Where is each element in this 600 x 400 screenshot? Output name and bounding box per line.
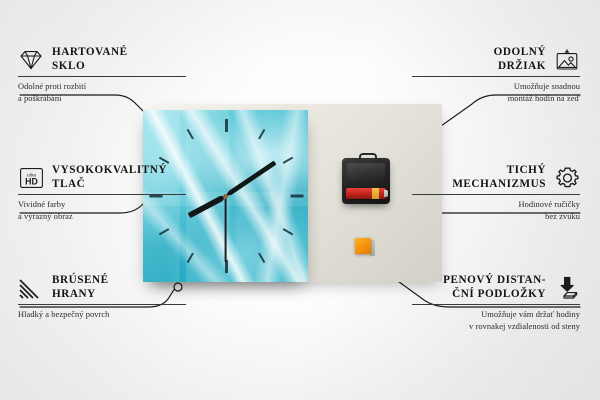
feature-durable-holder: ODOLNÝDRŽIAK Umožňuje snadnoumontáž hodi… <box>412 46 580 105</box>
tick-mark <box>290 195 303 198</box>
tick-mark <box>258 129 265 140</box>
feature-description: Umožňuje snadnoumontáž hodin na zeď <box>412 81 580 104</box>
diagonal-stripes-icon <box>18 275 44 301</box>
mechanism-emboss <box>347 163 385 183</box>
feature-desc-line2: v rovnakej vzdialenosti od steny <box>469 322 580 331</box>
feature-description: Hladký a bezpečný povrch <box>18 309 186 321</box>
feature-title: TICHÝMECHANIZMUS <box>412 164 546 191</box>
feature-tempered-glass: HARTOVANÉSKLO Odolné proti rozbitía pošk… <box>18 46 186 105</box>
hanging-picture-frame-icon <box>554 47 580 73</box>
ultra-hd-badge-icon: ultra HD <box>18 165 44 191</box>
feature-divider <box>18 304 186 305</box>
feature-title-line2: HRANY <box>52 288 96 300</box>
gear-icon <box>554 165 580 191</box>
feature-desc-line2: a výrazný obraz <box>18 212 73 221</box>
feature-high-quality-print: ultra HD VYSOKOKVALITNÝTLAČ Vividné farb… <box>18 164 186 223</box>
feature-desc-line1: Umožňuje vám držať hodiny <box>481 310 580 319</box>
feature-description: Hodinové ručičkybez zvuku <box>412 199 580 222</box>
feature-title: PENOVÝ DISTAN-ČNÍ PODLOŽKY <box>412 274 546 301</box>
svg-text:HD: HD <box>25 176 38 186</box>
aa-battery <box>346 188 386 199</box>
feature-title: BRÚSENÉHRANY <box>52 274 186 301</box>
feature-heading: TICHÝMECHANIZMUS <box>412 164 580 191</box>
feature-divider <box>18 194 186 195</box>
feature-heading: ODOLNÝDRŽIAK <box>412 46 580 73</box>
feature-title-line1: ODOLNÝ <box>494 46 546 58</box>
feature-description: Umožňuje vám držať hodinyv rovnakej vzdi… <box>412 309 580 332</box>
feature-desc-line2: bez zvuku <box>545 212 580 221</box>
feature-title-line1: BRÚSENÉ <box>52 274 109 286</box>
tick-mark <box>258 253 265 264</box>
tick-mark <box>186 129 193 140</box>
tick-mark <box>158 157 169 164</box>
feature-divider <box>18 76 186 77</box>
feature-heading: BRÚSENÉHRANY <box>18 274 186 301</box>
feature-desc-line1: Vividné farby <box>18 200 65 209</box>
feature-foam-spacer-pads: PENOVÝ DISTAN-ČNÍ PODLOŽKY Umožňuje vám … <box>412 274 580 333</box>
clock-second-hand <box>225 196 227 262</box>
feature-title-line2: TLAČ <box>52 178 85 190</box>
feature-title: ODOLNÝDRŽIAK <box>412 46 546 73</box>
feature-desc-line1: Umožňuje snadnou <box>514 82 580 91</box>
feature-description: Odolné proti rozbitía poškrábání <box>18 81 186 104</box>
feature-title-line2: SKLO <box>52 60 85 72</box>
feature-heading: HARTOVANÉSKLO <box>18 46 186 73</box>
feature-desc-line1: Hodinové ručičky <box>518 200 580 209</box>
feature-divider <box>412 76 580 77</box>
downward-arrow-onto-pad-icon <box>554 275 580 301</box>
feature-desc-line2: a poškrábání <box>18 94 62 103</box>
feature-divider <box>412 194 580 195</box>
foam-spacer-pad <box>355 238 375 257</box>
feature-title-line2: DRŽIAK <box>498 60 546 72</box>
feature-brushed-edges: BRÚSENÉHRANY Hladký a bezpečný povrch <box>18 274 186 321</box>
clock-center-hub <box>223 194 228 199</box>
feature-title: HARTOVANÉSKLO <box>52 46 186 73</box>
tick-mark <box>282 228 293 235</box>
feature-desc-line1: Odolné proti rozbití <box>18 82 86 91</box>
feature-title: VYSOKOKVALITNÝTLAČ <box>52 164 186 191</box>
battery-label-band <box>372 188 379 199</box>
foam-pad-top <box>355 238 371 254</box>
feature-description: Vividné farbya výrazný obraz <box>18 199 186 222</box>
feature-title-line1: TICHÝ <box>507 164 546 176</box>
tick-mark <box>186 253 193 264</box>
feature-divider <box>412 304 580 305</box>
feature-title-line1: PENOVÝ DISTAN- <box>443 274 546 286</box>
feature-desc-line2: montáž hodin na zeď <box>508 94 580 103</box>
feature-desc-line1: Hladký a bezpečný povrch <box>18 310 109 319</box>
feature-title-line2: MECHANIZMUS <box>452 178 546 190</box>
tick-mark <box>158 228 169 235</box>
feature-heading: ultra HD VYSOKOKVALITNÝTLAČ <box>18 164 186 191</box>
feature-silent-mechanism: TICHÝMECHANIZMUS Hodinové ručičkybez zvu… <box>412 164 580 223</box>
feature-title-line2: ČNÍ PODLOŽKY <box>452 288 546 300</box>
feature-heading: PENOVÝ DISTAN-ČNÍ PODLOŽKY <box>412 274 580 301</box>
product-feature-infographic: HARTOVANÉSKLO Odolné proti rozbitía pošk… <box>0 0 600 400</box>
diamond-icon <box>18 47 44 73</box>
clock-mechanism <box>342 158 390 204</box>
feature-title-line1: HARTOVANÉ <box>52 46 128 58</box>
feature-title-line1: VYSOKOKVALITNÝ <box>52 164 167 176</box>
tick-mark <box>282 157 293 164</box>
tick-mark <box>225 119 228 132</box>
